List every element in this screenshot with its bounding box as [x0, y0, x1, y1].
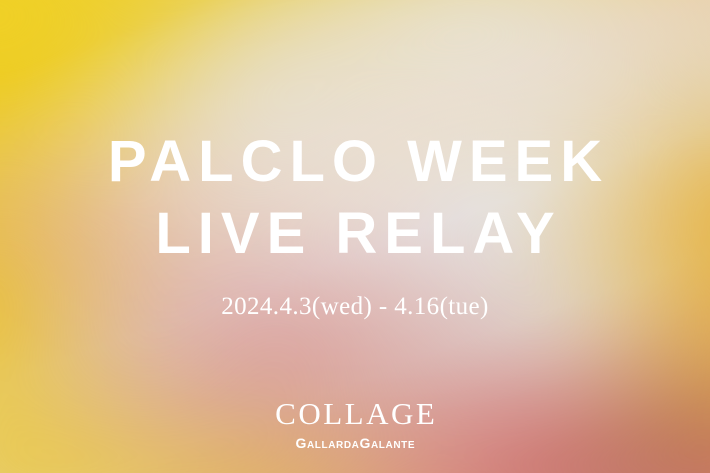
banner-content: PALCLO WEEK LIVE RELAY 2024.4.3(wed) - 4…: [0, 0, 710, 473]
brand-name-gallardagalante: GallardaGalante: [295, 435, 415, 451]
headline-line-1: PALCLO WEEK: [101, 133, 609, 191]
promo-banner: PALCLO WEEK LIVE RELAY 2024.4.3(wed) - 4…: [0, 0, 710, 473]
brand-logo: COLLAGE GallardaGalante: [0, 398, 710, 451]
headline-line-2: LIVE RELAY: [148, 205, 561, 263]
brand-name-collage: COLLAGE: [273, 398, 438, 429]
event-date-range: 2024.4.3(wed) - 4.16(tue): [221, 293, 489, 321]
